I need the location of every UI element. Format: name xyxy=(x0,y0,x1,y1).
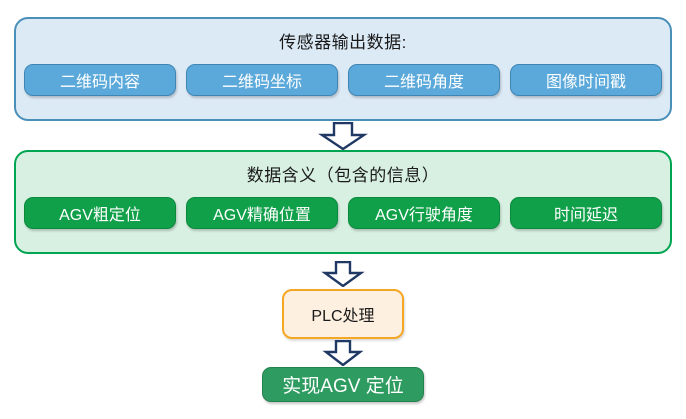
sensor-output-group: 传感器输出数据: 二维码内容 二维码坐标 二维码角度 图像时间戳 xyxy=(14,17,672,121)
meaning-item-agv-precise-position[interactable]: AGV精确位置 xyxy=(186,197,338,229)
sensor-output-item-row: 二维码内容 二维码坐标 二维码角度 图像时间戳 xyxy=(16,64,670,96)
sensor-item-qr-coordinate[interactable]: 二维码坐标 xyxy=(186,64,338,96)
sensor-item-qr-content[interactable]: 二维码内容 xyxy=(24,64,176,96)
data-meaning-group: 数据含义（包含的信息） AGV粗定位 AGV精确位置 AGV行驶角度 时间延迟 xyxy=(14,150,672,254)
sensor-output-title: 传感器输出数据: xyxy=(279,28,407,53)
meaning-item-agv-heading-angle[interactable]: AGV行驶角度 xyxy=(348,197,500,229)
data-meaning-title: 数据含义（包含的信息） xyxy=(247,161,440,186)
down-arrow-icon xyxy=(318,261,368,292)
result-box: 实现AGV 定位 xyxy=(262,367,424,402)
plc-process-box[interactable]: PLC处理 xyxy=(282,289,404,339)
sensor-item-qr-angle[interactable]: 二维码角度 xyxy=(348,64,500,96)
meaning-item-time-delay[interactable]: 时间延迟 xyxy=(510,197,662,229)
sensor-item-image-timestamp[interactable]: 图像时间戳 xyxy=(510,64,662,96)
meaning-item-agv-coarse-position[interactable]: AGV粗定位 xyxy=(24,197,176,229)
data-meaning-item-row: AGV粗定位 AGV精确位置 AGV行驶角度 时间延迟 xyxy=(16,197,670,229)
